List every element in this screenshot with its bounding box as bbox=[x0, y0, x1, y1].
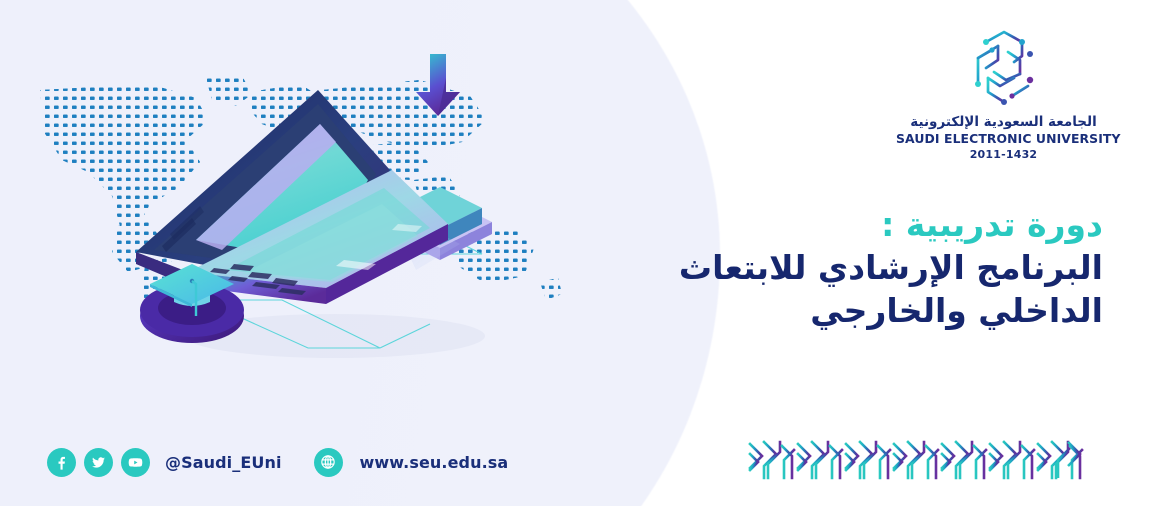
website-url: www.seu.edu.sa bbox=[360, 453, 509, 472]
footer-social-row: @Saudi_EUni www.seu.edu.sa bbox=[47, 440, 508, 484]
twitter-button[interactable] bbox=[84, 448, 113, 477]
headline-line-2: الداخلي والخارجي bbox=[483, 290, 1103, 333]
university-logo: الجامعة السعودية الإلكترونية SAUDI ELECT… bbox=[896, 26, 1111, 161]
twitter-icon bbox=[90, 454, 107, 471]
logo-year: 2011-1432 bbox=[896, 148, 1111, 161]
logo-english-name: SAUDI ELECTRONIC UNIVERSITY bbox=[896, 131, 1111, 147]
isometric-laptop-illustration bbox=[130, 48, 530, 368]
youtube-button[interactable] bbox=[121, 448, 150, 477]
hexagon-circuit-logo-icon bbox=[964, 26, 1044, 108]
facebook-icon bbox=[53, 454, 70, 471]
headline-block: دورة تدريبية : البرنامج الإرشادي للابتعا… bbox=[483, 204, 1103, 333]
social-handle: @Saudi_EUni bbox=[165, 453, 282, 472]
globe-icon bbox=[319, 453, 337, 471]
circuit-pattern-band bbox=[748, 436, 1106, 484]
youtube-icon bbox=[127, 454, 144, 471]
headline-kicker: دورة تدريبية : bbox=[483, 204, 1103, 247]
website-button[interactable] bbox=[314, 448, 343, 477]
logo-arabic-name: الجامعة السعودية الإلكترونية bbox=[896, 114, 1111, 131]
headline-line-1: البرنامج الإرشادي للابتعاث bbox=[483, 247, 1103, 290]
promo-banner: الجامعة السعودية الإلكترونية SAUDI ELECT… bbox=[0, 0, 1149, 506]
facebook-button[interactable] bbox=[47, 448, 76, 477]
